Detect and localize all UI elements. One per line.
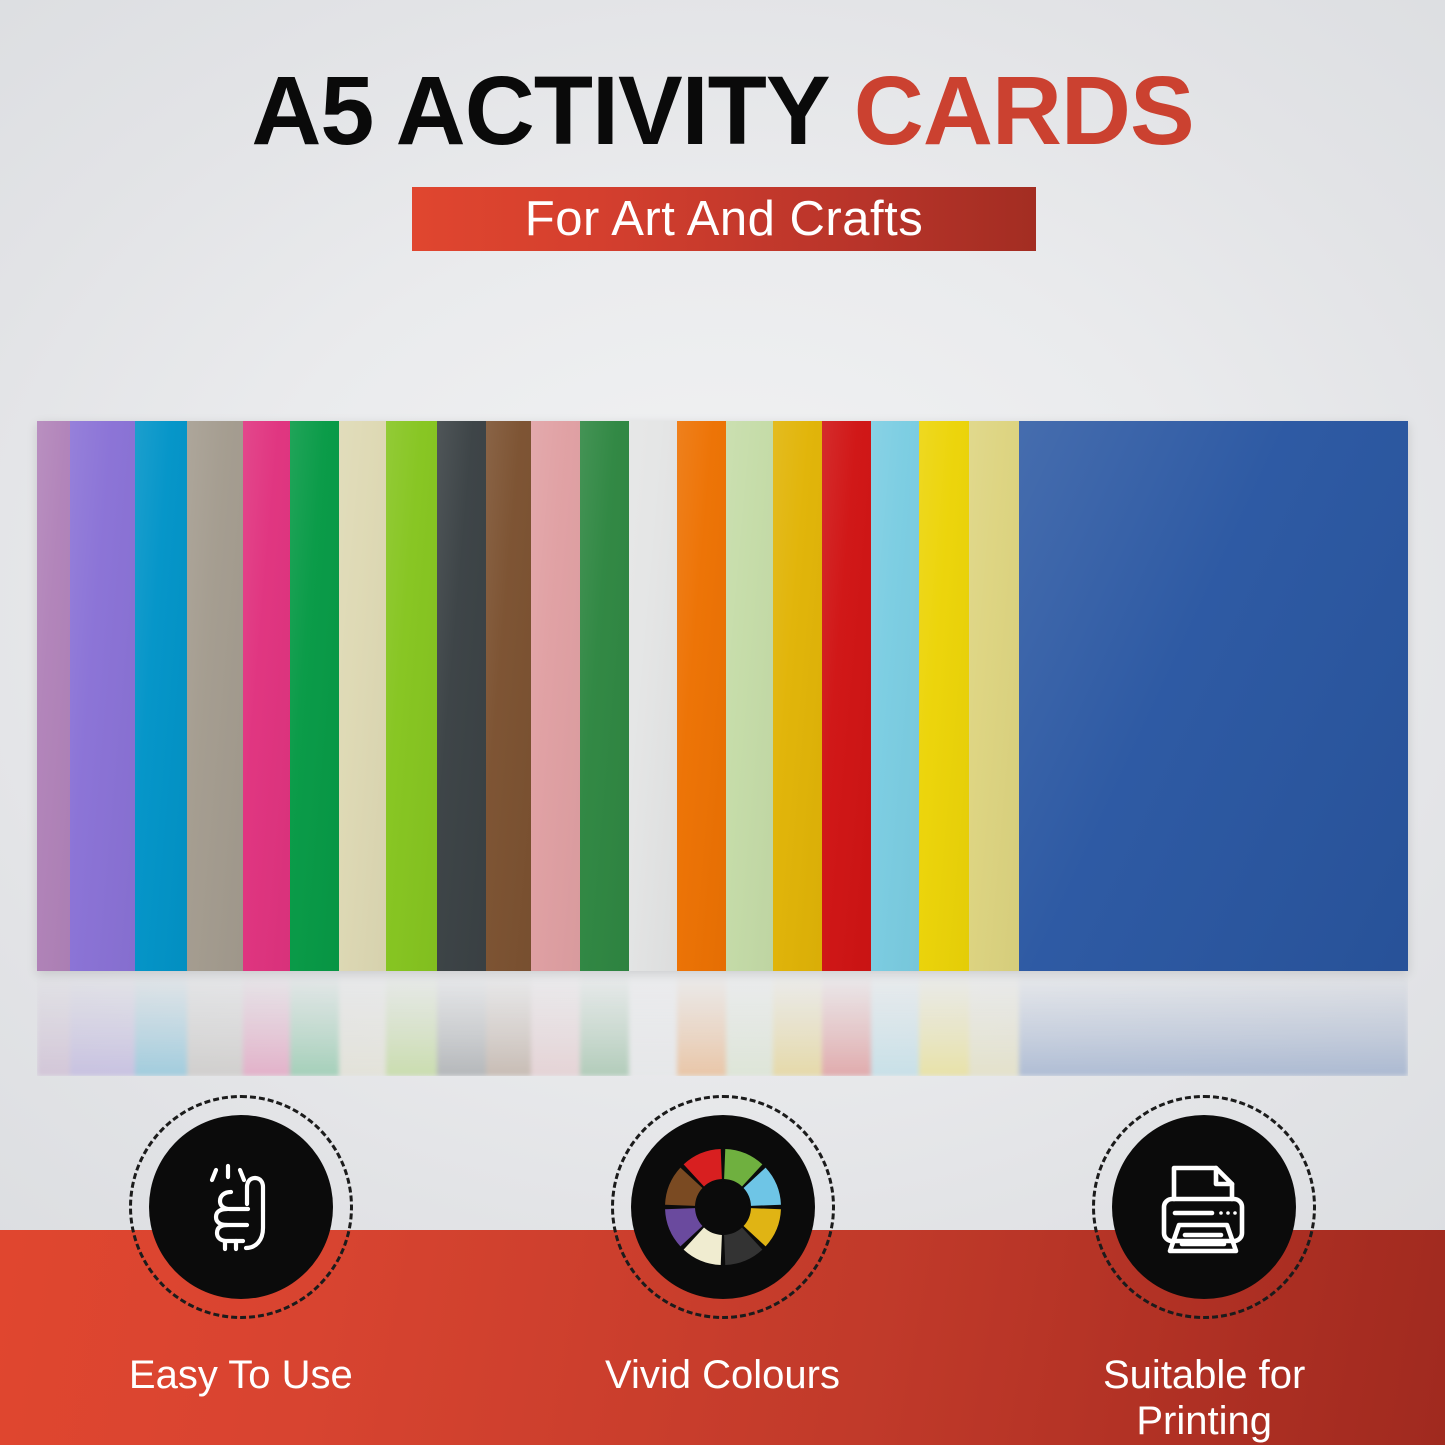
card-stripe-violet bbox=[70, 971, 134, 1076]
card-stripe-magenta-pink bbox=[243, 421, 289, 971]
card-stripe-lime-green bbox=[386, 421, 437, 971]
card-stripe-lime-green bbox=[386, 971, 437, 1076]
card-stripe-taupe-grey bbox=[187, 971, 243, 1076]
feature-list: Easy To Use Vivid Colours bbox=[0, 1095, 1445, 1445]
card-stripe-cream bbox=[339, 421, 385, 971]
card-stripe-green bbox=[290, 421, 339, 971]
subtitle-text: For Art And Crafts bbox=[525, 195, 923, 244]
card-stripe-dusty-pink bbox=[531, 971, 580, 1076]
card-stripe-pale-yellow bbox=[969, 971, 1019, 1076]
card-stripe-orange bbox=[677, 971, 726, 1076]
card-stripe-yellow bbox=[919, 971, 968, 1076]
card-stripe-lilac bbox=[37, 421, 70, 971]
card-stripe-magenta-pink bbox=[243, 971, 289, 1076]
card-stripe-charcoal bbox=[437, 971, 486, 1076]
card-stripe-cyan-blue bbox=[135, 421, 187, 971]
card-stripe-lilac bbox=[37, 971, 70, 1076]
product-infographic-page: A5 ACTIVITY CARDS For Art And Crafts bbox=[0, 0, 1445, 1445]
card-stripe-gold bbox=[773, 421, 821, 971]
card-stripe-royal-blue bbox=[1019, 421, 1408, 971]
card-stripe-green bbox=[290, 971, 339, 1076]
card-stripe-orange bbox=[677, 421, 726, 971]
page-title: A5 ACTIVITY CARDS bbox=[0, 60, 1445, 162]
card-stripe-charcoal bbox=[437, 421, 486, 971]
card-stripe-pale-green bbox=[726, 971, 773, 1076]
card-stripe-white bbox=[629, 421, 676, 971]
feature-badge bbox=[1092, 1095, 1316, 1319]
feature-label: Easy To Use bbox=[129, 1352, 353, 1398]
feature-badge bbox=[129, 1095, 353, 1319]
card-stripe-gold bbox=[773, 971, 821, 1076]
card-stripe-forest-green bbox=[580, 971, 629, 1076]
card-stripe-pale-yellow bbox=[969, 421, 1019, 971]
card-stripe-brown bbox=[486, 971, 530, 1076]
icon-circle bbox=[1112, 1115, 1296, 1299]
card-stack bbox=[37, 421, 1408, 971]
card-stripe-light-blue bbox=[871, 421, 919, 971]
feature-suitable-for-printing: Suitable for Printing bbox=[963, 1095, 1445, 1445]
card-stripe-brown bbox=[486, 421, 530, 971]
card-stripe-taupe-grey bbox=[187, 421, 243, 971]
card-stripe-pale-green bbox=[726, 421, 773, 971]
card-stripe-light-blue bbox=[871, 971, 919, 1076]
header: A5 ACTIVITY CARDS For Art And Crafts bbox=[0, 0, 1445, 300]
icon-circle bbox=[149, 1115, 333, 1299]
subtitle-banner: For Art And Crafts bbox=[412, 187, 1036, 251]
feature-label: Vivid Colours bbox=[605, 1352, 840, 1398]
card-stack-reflection bbox=[37, 971, 1408, 1076]
card-stripe-cream bbox=[339, 971, 385, 1076]
card-stripe-red bbox=[822, 971, 871, 1076]
card-stripe-yellow bbox=[919, 421, 968, 971]
card-stripe-forest-green bbox=[580, 421, 629, 971]
card-stripe-white bbox=[629, 971, 676, 1076]
feature-badge bbox=[611, 1095, 835, 1319]
feature-vivid-colours: Vivid Colours bbox=[482, 1095, 964, 1445]
snapping-fingers-icon bbox=[185, 1151, 297, 1263]
printer-icon bbox=[1148, 1151, 1260, 1263]
colour-wheel-icon bbox=[643, 1127, 803, 1287]
card-stripe-red bbox=[822, 421, 871, 971]
icon-circle bbox=[631, 1115, 815, 1299]
feature-easy-to-use: Easy To Use bbox=[0, 1095, 482, 1445]
card-stripe-dusty-pink bbox=[531, 421, 580, 971]
card-stripe-violet bbox=[70, 421, 134, 971]
card-stripe-cyan-blue bbox=[135, 971, 187, 1076]
title-primary: A5 ACTIVITY bbox=[251, 56, 828, 165]
feature-label: Suitable for Printing bbox=[1103, 1352, 1305, 1444]
card-stripe-royal-blue bbox=[1019, 971, 1408, 1076]
product-image bbox=[37, 421, 1408, 971]
title-accent: CARDS bbox=[854, 56, 1194, 165]
